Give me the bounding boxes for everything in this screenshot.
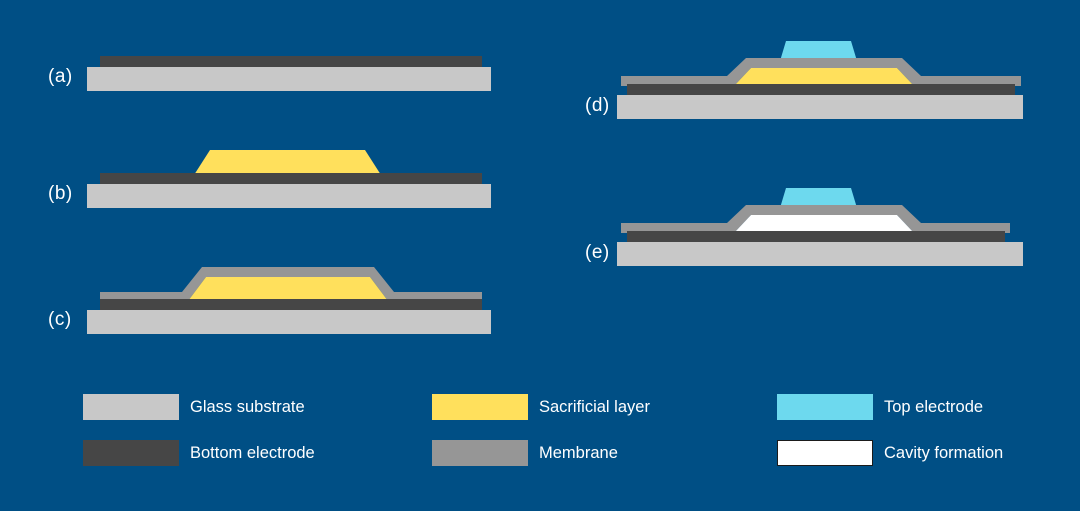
cavity-shape bbox=[734, 215, 914, 233]
bottom-electrode-layer bbox=[627, 84, 1015, 95]
sacrificial-layer-shape bbox=[188, 277, 388, 301]
legend-swatch-glass-substrate bbox=[83, 394, 179, 420]
glass-substrate-layer bbox=[87, 67, 491, 91]
glass-substrate-layer bbox=[87, 310, 491, 334]
process-flow-svg: (a) (b) (c) (d) bbox=[0, 0, 1080, 506]
panel-label-d: (d) bbox=[585, 95, 610, 116]
legend-label-sacrificial-layer: Sacrificial layer bbox=[539, 399, 650, 416]
bottom-electrode-layer bbox=[100, 173, 482, 184]
legend-swatch-cavity-formation bbox=[777, 440, 873, 466]
legend-swatch-top-electrode bbox=[777, 394, 873, 420]
sacrificial-layer-shape bbox=[194, 150, 381, 175]
glass-substrate-layer bbox=[87, 184, 491, 208]
glass-substrate-layer bbox=[617, 95, 1023, 119]
panel-b: (b) bbox=[48, 150, 491, 208]
panel-c: (c) bbox=[48, 267, 491, 334]
bottom-electrode-layer bbox=[627, 231, 1005, 242]
legend-label-glass-substrate: Glass substrate bbox=[190, 399, 305, 416]
panel-d: (d) bbox=[585, 41, 1023, 119]
bottom-electrode-layer bbox=[100, 56, 482, 67]
legend-label-membrane: Membrane bbox=[539, 445, 618, 462]
legend-label-cavity-formation: Cavity formation bbox=[884, 445, 1003, 462]
legend-label-bottom-electrode: Bottom electrode bbox=[190, 445, 315, 462]
legend-swatch-bottom-electrode bbox=[83, 440, 179, 466]
panel-label-c: (c) bbox=[48, 309, 72, 330]
panel-label-e: (e) bbox=[585, 242, 610, 263]
panel-label-a: (a) bbox=[48, 66, 73, 87]
bottom-electrode-layer bbox=[100, 299, 482, 310]
figure-canvas: (a) (b) (c) (d) bbox=[0, 0, 1080, 506]
panel-e: (e) bbox=[585, 188, 1023, 266]
panel-label-b: (b) bbox=[48, 183, 73, 204]
legend-swatch-sacrificial-layer bbox=[432, 394, 528, 420]
sacrificial-layer-shape bbox=[734, 68, 914, 86]
legend-label-top-electrode: Top electrode bbox=[884, 399, 983, 416]
panel-a: (a) bbox=[48, 56, 491, 91]
glass-substrate-layer bbox=[617, 242, 1023, 266]
legend-swatch-membrane bbox=[432, 440, 528, 466]
